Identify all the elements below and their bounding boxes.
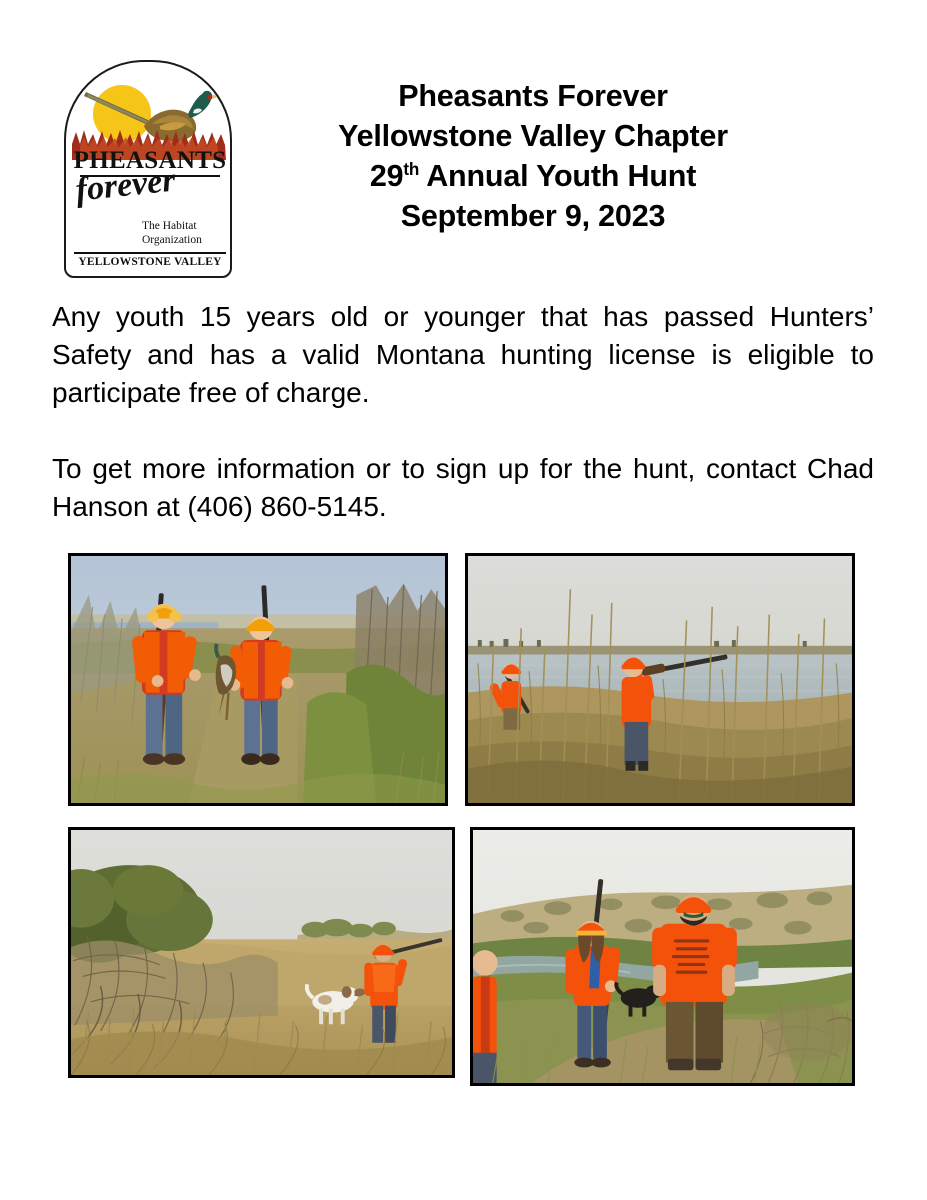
photo-2-image bbox=[468, 556, 852, 803]
photo-youth-hunters-with-pheasant bbox=[68, 553, 448, 806]
cropped-hunter-left-edge bbox=[473, 950, 498, 1083]
photo-3-image bbox=[71, 830, 452, 1075]
flyer-page: PHEASANTS forever The Habitat Organizati… bbox=[0, 0, 927, 1200]
photo-grid bbox=[0, 0, 927, 1200]
photo-4-image bbox=[473, 830, 852, 1083]
photo-1-image bbox=[71, 556, 445, 803]
photo-hunters-aiming-at-reservoir bbox=[465, 553, 855, 806]
photo-hunter-with-bird-dog bbox=[68, 827, 455, 1078]
photo-youth-and-mentor-at-creek bbox=[470, 827, 855, 1086]
